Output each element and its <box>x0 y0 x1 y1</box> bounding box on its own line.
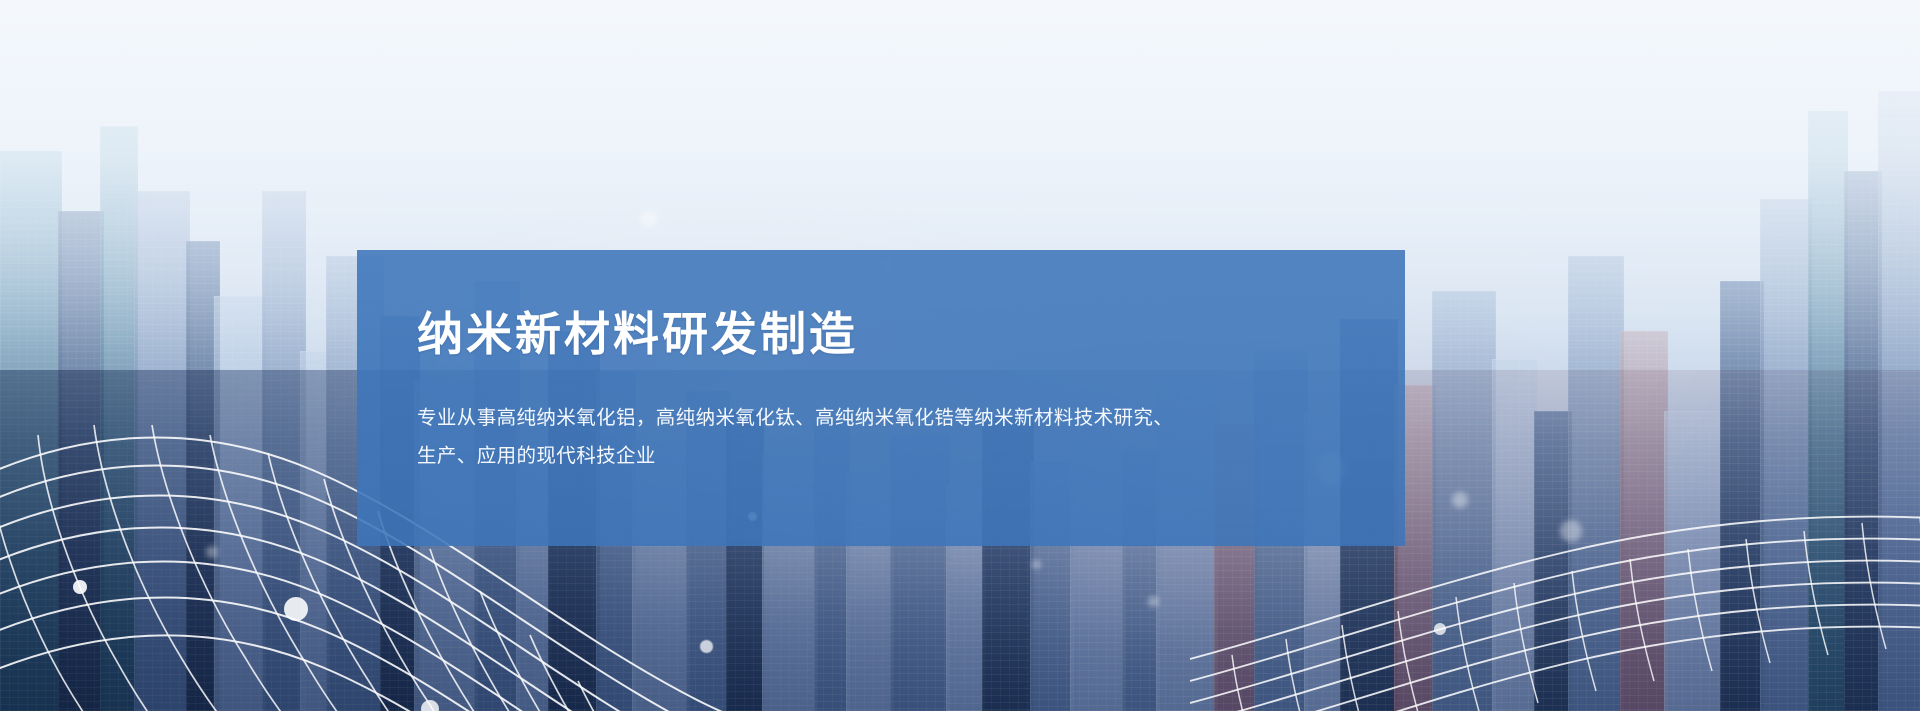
hero-banner: 纳米新材料研发制造 专业从事高纯纳米氧化铝，高纯纳米氧化钛、高纯纳米氧化锆等纳米… <box>0 0 1920 711</box>
hero-subtitle-line-1: 专业从事高纯纳米氧化铝，高纯纳米氧化钛、高纯纳米氧化锆等纳米新材料技术研究、 <box>417 399 1345 437</box>
hero-subtitle: 专业从事高纯纳米氧化铝，高纯纳米氧化钛、高纯纳米氧化锆等纳米新材料技术研究、 生… <box>417 399 1345 475</box>
page-title: 纳米新材料研发制造 <box>417 308 1345 361</box>
hero-subtitle-line-2: 生产、应用的现代科技企业 <box>417 437 1345 475</box>
hero-text-panel: 纳米新材料研发制造 专业从事高纯纳米氧化铝，高纯纳米氧化钛、高纯纳米氧化锆等纳米… <box>357 250 1405 546</box>
